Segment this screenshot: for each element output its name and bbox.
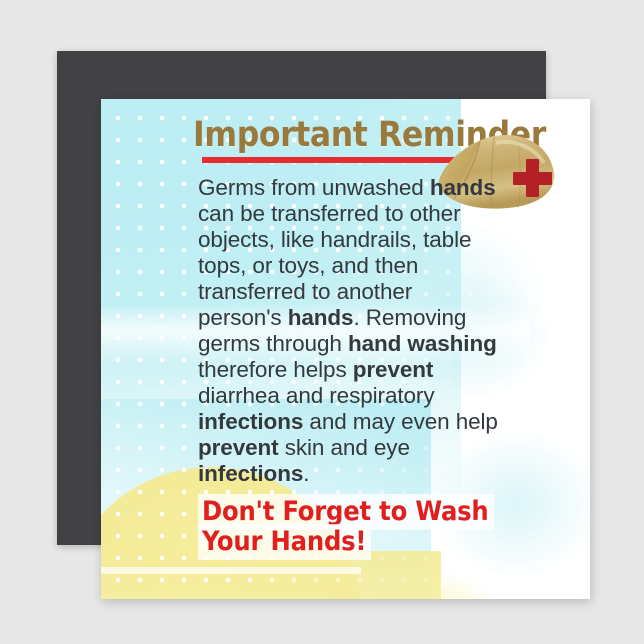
body-text-run: . <box>303 461 309 486</box>
body-bold-term: hand washing <box>348 331 497 356</box>
body-bold-term: hands <box>430 175 496 200</box>
cta-line-1: Don't Forget to Wash <box>198 497 528 527</box>
cta-line-2: Your Hands! <box>198 527 528 557</box>
body-bold-term: prevent <box>198 435 279 460</box>
body-bold-term: infections <box>198 461 303 486</box>
body-text-run: skin and eye <box>279 435 410 460</box>
call-to-action-text: Don't Forget to Wash Your Hands! <box>198 497 528 557</box>
body-text-run: therefore helps <box>198 357 353 382</box>
body-paragraph: Germs from unwashed hands can be transfe… <box>198 175 498 487</box>
body-bold-term: prevent <box>353 357 434 382</box>
card-content: Important Reminder <box>101 99 590 599</box>
reminder-card[interactable]: Important Reminder <box>101 99 590 599</box>
screenshot-stage: Important Reminder <box>0 0 644 644</box>
body-bold-term: hands <box>288 305 354 330</box>
body-text-run: and may even help <box>303 409 498 434</box>
body-text-run: Germs from unwashed <box>198 175 430 200</box>
body-text-run: diarrhea and respiratory <box>198 383 434 408</box>
body-bold-term: infections <box>198 409 303 434</box>
